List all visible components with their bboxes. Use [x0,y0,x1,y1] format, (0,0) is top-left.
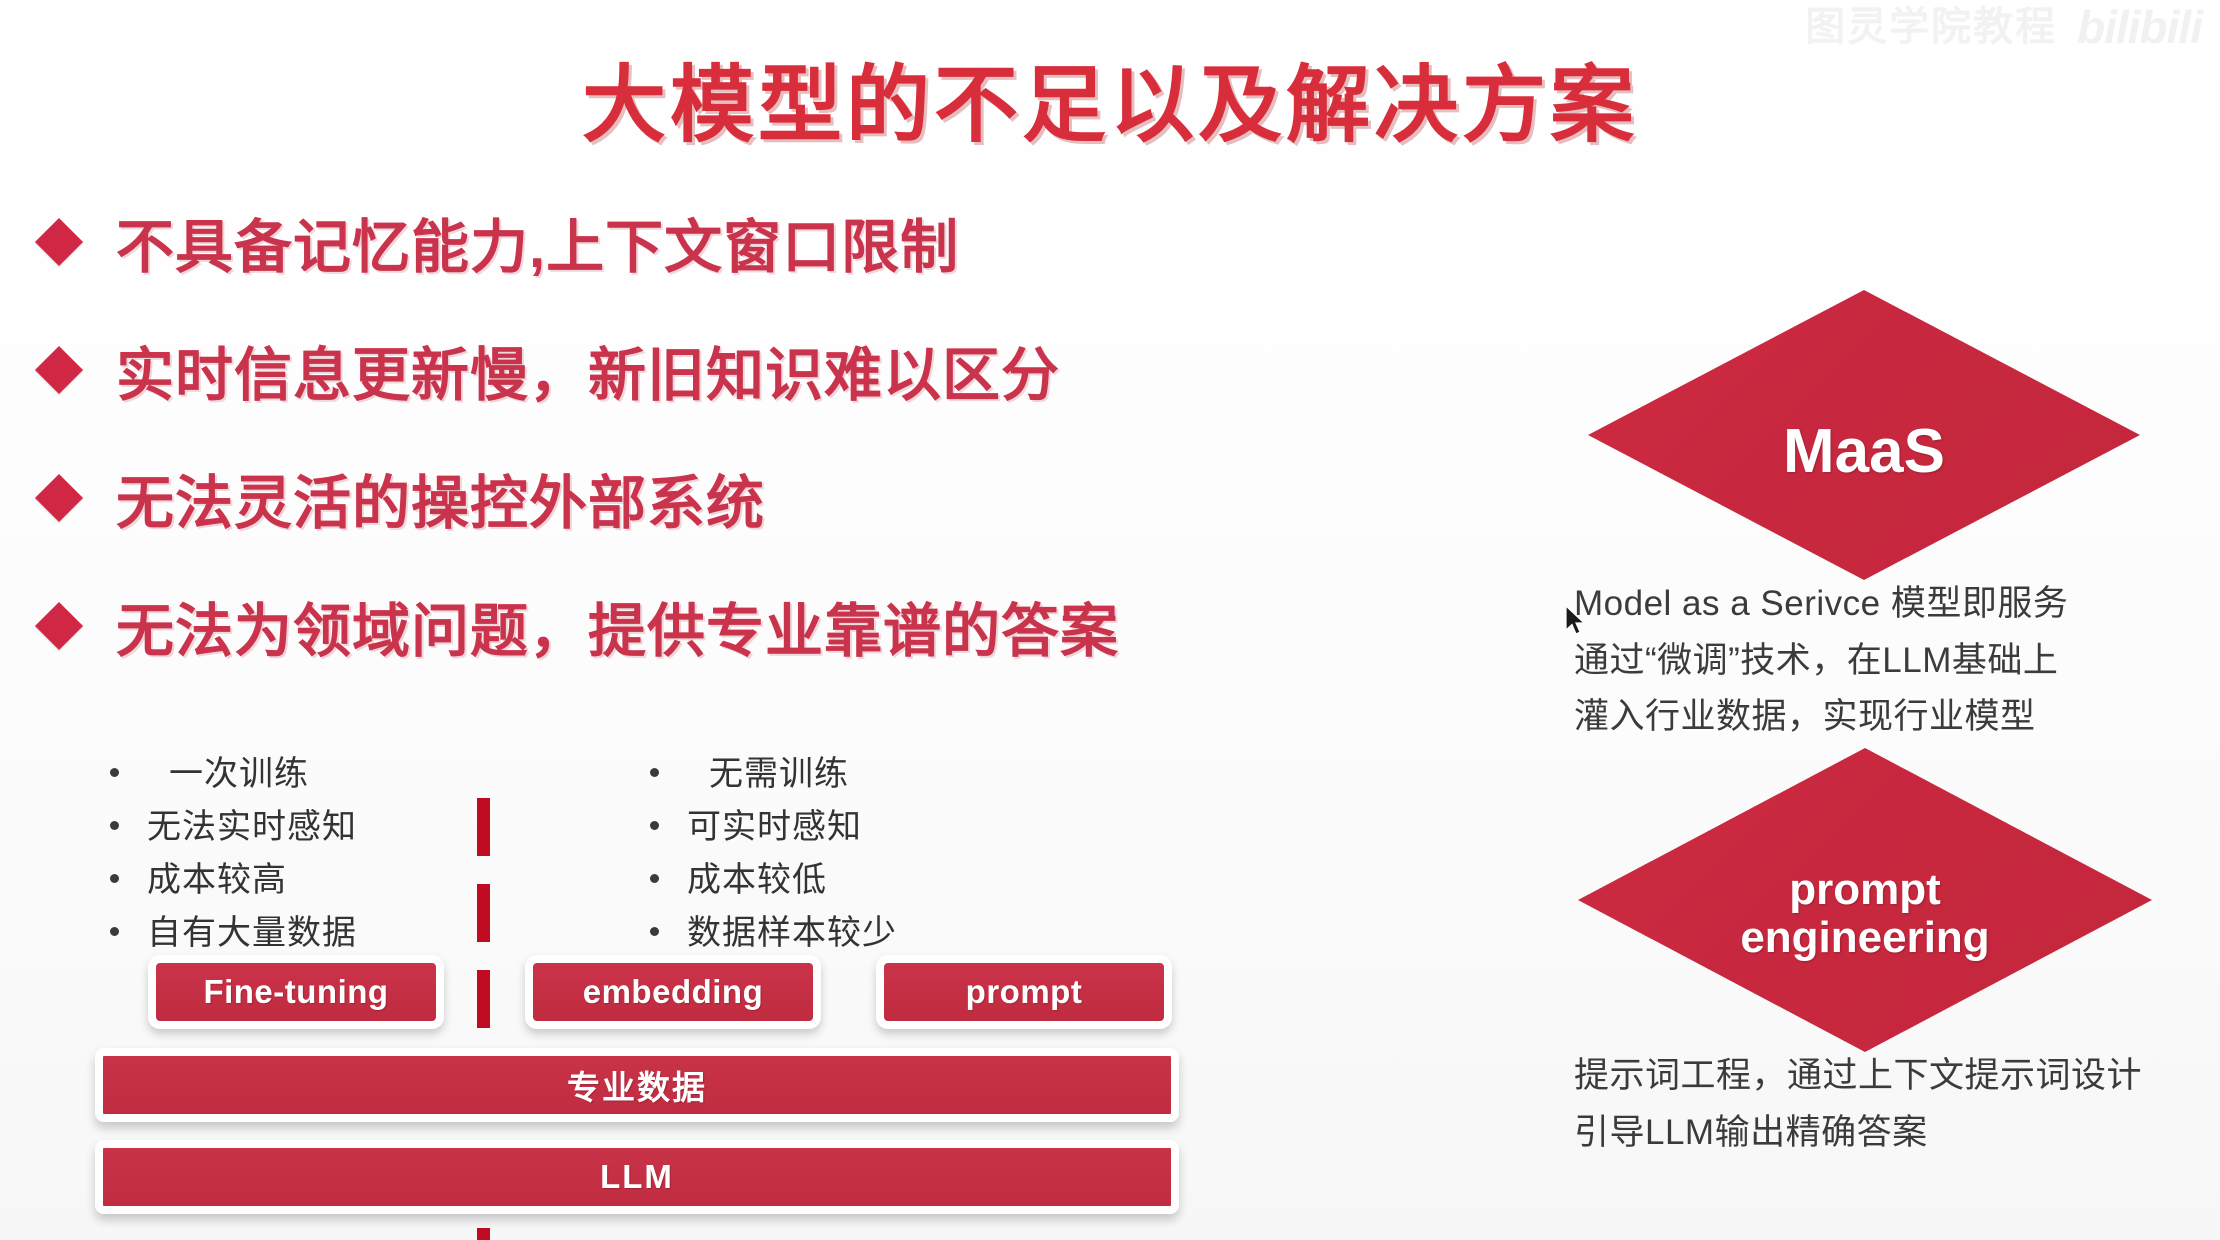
list-item: 一次训练 [110,746,500,799]
list-item: 无需训练 [650,746,1040,799]
list-item: 无法实时感知 [110,799,500,852]
comparison-right-column: 无需训练 可实时感知 成本较低 数据样本较少 [650,746,1040,958]
maas-description-line: Model as a Serivce 模型即服务 [1574,576,2214,633]
comparison-left-label: 一次训练 [147,746,309,795]
comparison-right-label: 可实时感知 [687,799,862,848]
pill-embedding[interactable]: embedding [525,955,821,1029]
bullet-list: 不具备记忆能力,上下文窗口限制 实时信息更新慢，新旧知识难以区分 无法灵活的操控… [36,196,1396,708]
dot-bullet-icon [110,874,119,883]
comparison-left-label: 无法实时感知 [147,799,357,848]
bar-professional-data[interactable]: 专业数据 [95,1048,1179,1122]
list-item: 数据样本较少 [650,905,1040,958]
maas-description-line: 通过“微调”技术，在LLM基础上 [1574,633,2214,690]
diamond-prompt-line1: prompt [1789,865,1941,914]
bullet-label: 不具备记忆能力,上下文窗口限制 [116,200,959,284]
bullet-label: 无法为领域问题，提供专业靠谱的答案 [116,584,1119,668]
prompt-engineering-description-line: 引导LLM输出精确答案 [1574,1105,2214,1162]
diamond-maas[interactable]: MaaS [1588,290,2140,580]
maas-description-line: 灌入行业数据，实现行业模型 [1574,689,2214,746]
dot-bullet-icon [650,768,659,777]
comparison-columns: 一次训练 无法实时感知 成本较高 自有大量数据 无需训练 [110,746,1190,958]
list-item: 不具备记忆能力,上下文窗口限制 [36,196,1396,288]
prompt-engineering-description: 提示词工程，通过上下文提示词设计 引导LLM输出精确答案 [1574,1048,2214,1161]
pill-fine-tuning[interactable]: Fine-tuning [148,955,444,1029]
bullet-label: 无法灵活的操控外部系统 [116,456,765,540]
comparison-right-label: 数据样本较少 [687,905,897,954]
dot-bullet-icon [110,821,119,830]
dot-bullet-icon [650,874,659,883]
slide-canvas: 图灵学院教程 bilibili 大模型的不足以及解决方案 不具备记忆能力,上下文… [0,0,2220,1240]
list-item: 可实时感知 [650,799,1040,852]
list-item: 实时信息更新慢，新旧知识难以区分 [36,324,1396,416]
comparison-left-label: 成本较高 [147,852,287,901]
dot-bullet-icon [650,927,659,936]
comparison-left-label: 自有大量数据 [147,905,357,954]
bullet-label: 实时信息更新慢，新旧知识难以区分 [116,328,1060,412]
list-item: 自有大量数据 [110,905,500,958]
maas-description: Model as a Serivce 模型即服务 通过“微调”技术，在LLM基础… [1574,576,2214,746]
comparison-right-label: 成本较低 [687,852,827,901]
pill-prompt[interactable]: prompt [876,955,1172,1029]
diamond-bullet-icon [35,474,83,522]
dot-bullet-icon [110,927,119,936]
comparison-right-label: 无需训练 [687,746,849,795]
diamond-bullet-icon [35,346,83,394]
diamond-bullet-icon [35,602,83,650]
comparison-left-column: 一次训练 无法实时感知 成本较高 自有大量数据 [110,746,500,958]
dot-bullet-icon [110,768,119,777]
list-item: 成本较高 [110,852,500,905]
list-item: 无法为领域问题，提供专业靠谱的答案 [36,580,1396,672]
list-item: 成本较低 [650,852,1040,905]
diamond-bullet-icon [35,218,83,266]
prompt-engineering-description-line: 提示词工程，通过上下文提示词设计 [1574,1048,2214,1105]
list-item: 无法灵活的操控外部系统 [36,452,1396,544]
dot-bullet-icon [650,821,659,830]
diamond-prompt-engineering[interactable]: prompt engineering [1578,748,2152,1052]
diamond-maas-label: MaaS [1783,419,1945,486]
bar-llm[interactable]: LLM [95,1140,1179,1214]
right-panel: MaaS Model as a Serivce 模型即服务 通过“微调”技术，在… [1540,0,2220,1240]
diamond-prompt-line2: engineering [1740,913,1989,962]
diamond-prompt-engineering-label: prompt engineering [1740,866,1989,961]
